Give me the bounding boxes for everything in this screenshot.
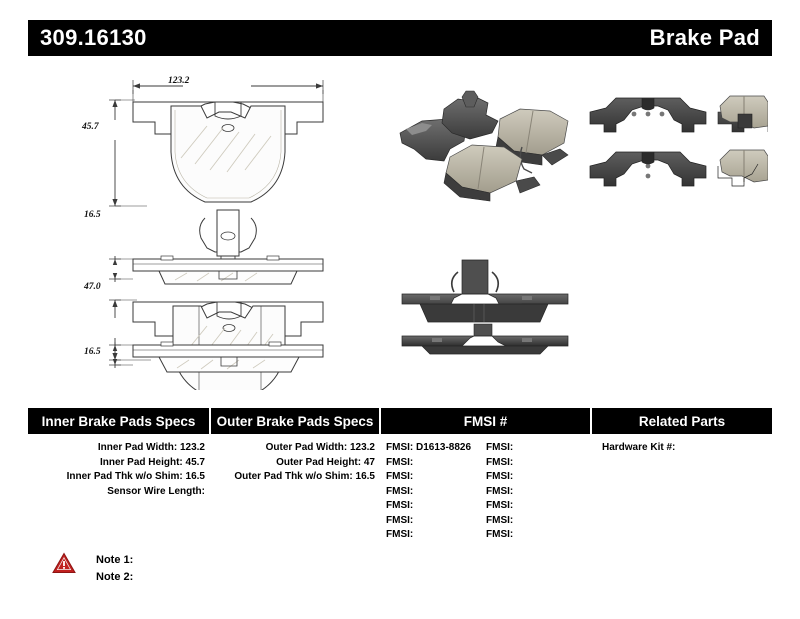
fmsi-label: FMSI: — [486, 515, 513, 526]
notes-text: Note 1: Note 2: — [96, 552, 133, 586]
rear-pad-side-view-drawing — [55, 328, 395, 398]
spec-value: 45.7 — [186, 457, 205, 468]
note-line: Note 1: — [96, 552, 133, 569]
column-header-related-parts: Related Parts — [592, 408, 772, 434]
related-parts-cell: Hardware Kit #: — [592, 434, 772, 543]
fmsi-label: FMSI: — [486, 529, 513, 540]
specifications-table: Inner Brake Pads Specs Outer Brake Pads … — [28, 408, 772, 543]
fmsi-row: FMSI: — [486, 528, 586, 543]
fmsi-value: D1613-8826 — [416, 442, 471, 453]
fmsi-row: FMSI: — [486, 485, 586, 500]
spec-label: Outer Pad Thk w/o Shim: — [234, 471, 352, 482]
spec-row: Inner Pad Thk w/o Shim: 16.5 — [28, 470, 211, 485]
part-number: 309.16130 — [40, 25, 147, 51]
spec-row: Outer Pad Thk w/o Shim: 16.5 — [211, 470, 381, 485]
fmsi-row: FMSI: — [386, 456, 486, 471]
fmsi-row: FMSI: — [386, 528, 486, 543]
fmsi-label: FMSI: — [386, 457, 413, 468]
fmsi-column-left: FMSI: D1613-8826 FMSI: FMSI: FMSI: — [386, 441, 486, 543]
fmsi-row: FMSI: — [386, 485, 486, 500]
front-pad-set-photo — [392, 85, 582, 205]
fmsi-label: FMSI: — [486, 500, 513, 511]
drawing-area: 123.2 45.7 16.5 47.0 16.5 — [0, 60, 800, 395]
column-header-outer-specs: Outer Brake Pads Specs — [211, 408, 381, 434]
outer-specs-cell: Outer Pad Width: 123.2 Outer Pad Height:… — [211, 434, 381, 543]
table-body: Inner Pad Width: 123.2 Inner Pad Height:… — [28, 434, 772, 543]
spec-row: Outer Pad Height: 47 — [211, 456, 381, 471]
fmsi-row: FMSI: — [386, 499, 486, 514]
spec-value: 16.5 — [356, 471, 375, 482]
note-line: Note 2: — [96, 569, 133, 586]
spec-value: 47 — [364, 457, 375, 468]
spec-row: Sensor Wire Length: — [28, 485, 211, 500]
notes-section: Note 1: Note 2: — [52, 552, 133, 586]
fmsi-row: FMSI: — [486, 514, 586, 529]
fmsi-label: FMSI: — [386, 500, 413, 511]
related-part-label: Hardware Kit #: — [602, 442, 675, 453]
title-bar: 309.16130 Brake Pad — [28, 20, 772, 56]
fmsi-label: FMSI: — [386, 529, 413, 540]
fmsi-row: FMSI: — [486, 441, 586, 456]
warning-triangle-icon — [52, 552, 76, 574]
spec-label: Inner Pad Height: — [100, 457, 183, 468]
spec-row: Outer Pad Width: 123.2 — [211, 441, 381, 456]
table-header-row: Inner Brake Pads Specs Outer Brake Pads … — [28, 408, 772, 434]
spec-label: Outer Pad Width: — [266, 442, 348, 453]
fmsi-row: FMSI: — [486, 470, 586, 485]
pad-pair-front-back-photo — [582, 88, 768, 194]
spec-label: Outer Pad Height: — [276, 457, 361, 468]
fmsi-row: FMSI: — [486, 456, 586, 471]
fmsi-label: FMSI: — [386, 515, 413, 526]
spec-row: Inner Pad Height: 45.7 — [28, 456, 211, 471]
spec-value: 123.2 — [350, 442, 375, 453]
spec-label: Inner Pad Thk w/o Shim: — [67, 471, 183, 482]
fmsi-row: FMSI: D1613-8826 — [386, 441, 486, 456]
fmsi-label: FMSI: — [486, 442, 513, 453]
related-part-row: Hardware Kit #: — [592, 441, 772, 456]
dim-rear-pad-thickness: 16.5 — [84, 347, 101, 357]
fmsi-label: FMSI: — [386, 442, 413, 453]
spec-label: Inner Pad Width: — [98, 442, 177, 453]
dim-front-pad-thickness: 16.5 — [84, 210, 101, 220]
fmsi-label: FMSI: — [486, 471, 513, 482]
spec-label: Sensor Wire Length: — [107, 486, 205, 497]
dim-front-pad-height: 45.7 — [82, 122, 99, 132]
fmsi-row: FMSI: — [386, 470, 486, 485]
fmsi-label: FMSI: — [486, 486, 513, 497]
spec-value: 16.5 — [186, 471, 205, 482]
fmsi-row: FMSI: — [486, 499, 586, 514]
fmsi-cell: FMSI: D1613-8826 FMSI: FMSI: FMSI: — [381, 434, 592, 543]
fmsi-label: FMSI: — [486, 457, 513, 468]
fmsi-row: FMSI: — [386, 514, 486, 529]
column-header-inner-specs: Inner Brake Pads Specs — [28, 408, 211, 434]
dim-rear-pad-height: 47.0 — [84, 282, 101, 292]
spec-value: 123.2 — [180, 442, 205, 453]
product-type-label: Brake Pad — [650, 25, 760, 51]
rear-pad-pair-photo — [392, 250, 582, 356]
fmsi-column-right: FMSI: FMSI: FMSI: FMSI: — [486, 441, 586, 543]
dim-front-pad-width: 123.2 — [168, 76, 189, 86]
column-header-fmsi: FMSI # — [381, 408, 592, 434]
spec-row: Inner Pad Width: 123.2 — [28, 441, 211, 456]
fmsi-label: FMSI: — [386, 486, 413, 497]
fmsi-label: FMSI: — [386, 471, 413, 482]
inner-specs-cell: Inner Pad Width: 123.2 Inner Pad Height:… — [28, 434, 211, 543]
